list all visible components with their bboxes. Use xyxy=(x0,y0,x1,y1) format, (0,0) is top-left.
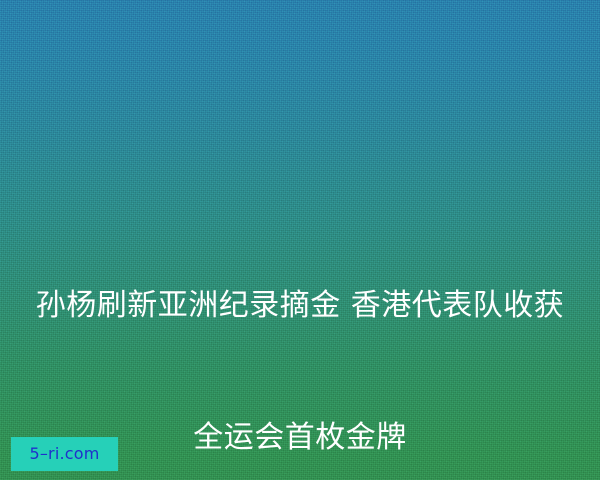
article-banner-image: 孙杨刷新亚洲纪录摘金 香港代表队收获 全运会首枚金牌 5–ri.com xyxy=(0,0,600,480)
site-watermark-label: 5–ri.com xyxy=(29,446,99,462)
site-watermark-badge: 5–ri.com xyxy=(11,437,118,471)
headline-line-1: 孙杨刷新亚洲纪录摘金 香港代表队收获 xyxy=(0,284,600,328)
